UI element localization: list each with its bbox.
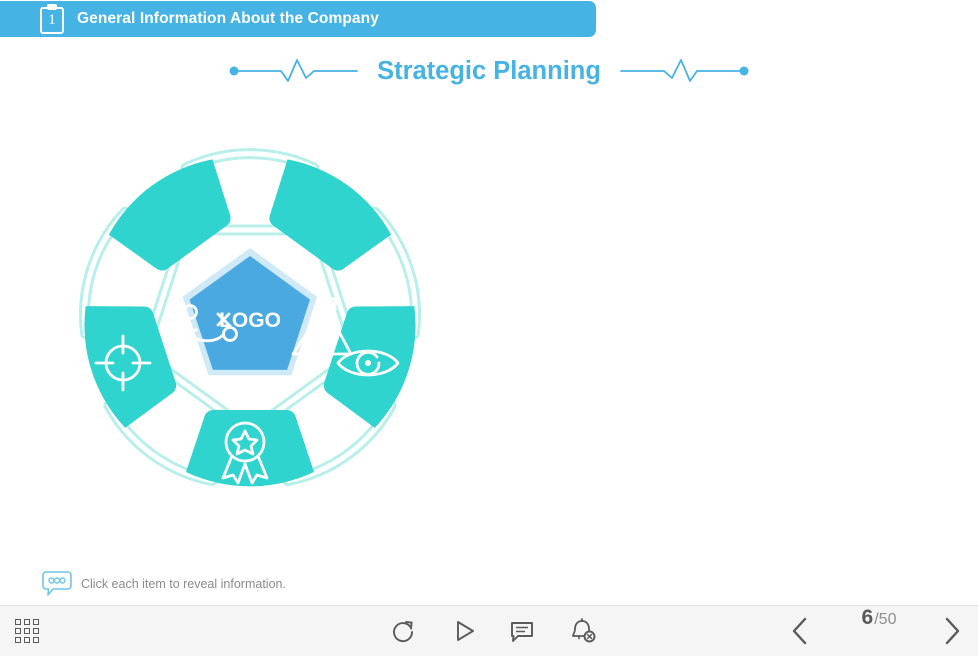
player-toolbar: 6 /50 [0,605,978,656]
comment-icon [509,618,535,644]
play-icon [451,618,477,644]
clipboard-icon: 1 [40,4,64,34]
page-indicator: 6 /50 [840,606,918,656]
grid-icon [15,619,39,643]
title-decoration-left [229,57,361,85]
header-title: General Information About the Company [77,10,379,28]
slide-title: Strategic Planning [361,57,617,86]
chevron-left-icon [788,615,814,647]
replay-button[interactable] [384,606,422,656]
segment-goals[interactable] [72,287,184,432]
replay-icon [390,618,416,644]
slide-grid-button[interactable] [8,606,46,656]
title-decoration-right [617,57,749,85]
section-header-bar: 1 General Information About the Company [0,1,596,37]
bell-muted-icon [569,617,597,645]
play-button[interactable] [445,606,483,656]
speech-bubble-dots-icon [42,570,72,598]
hint-text: Click each item to reveal information. [81,577,286,591]
chevron-right-icon [938,615,964,647]
slide-title-row: Strategic Planning [0,50,978,92]
slide-canvas: 1 General Information About the Company … [0,0,978,605]
center-logo: LOGO [183,248,317,375]
page-total: /50 [874,611,896,629]
previous-slide-button[interactable] [782,606,820,656]
next-slide-button[interactable] [932,606,970,656]
page-current: 6 [862,606,874,630]
pentagon-diagram: LOGO [40,120,460,520]
notifications-mute-button[interactable] [562,606,604,656]
comment-button[interactable] [503,606,541,656]
hint-row: Click each item to reveal information. [42,570,286,598]
clipboard-number: 1 [40,9,64,31]
